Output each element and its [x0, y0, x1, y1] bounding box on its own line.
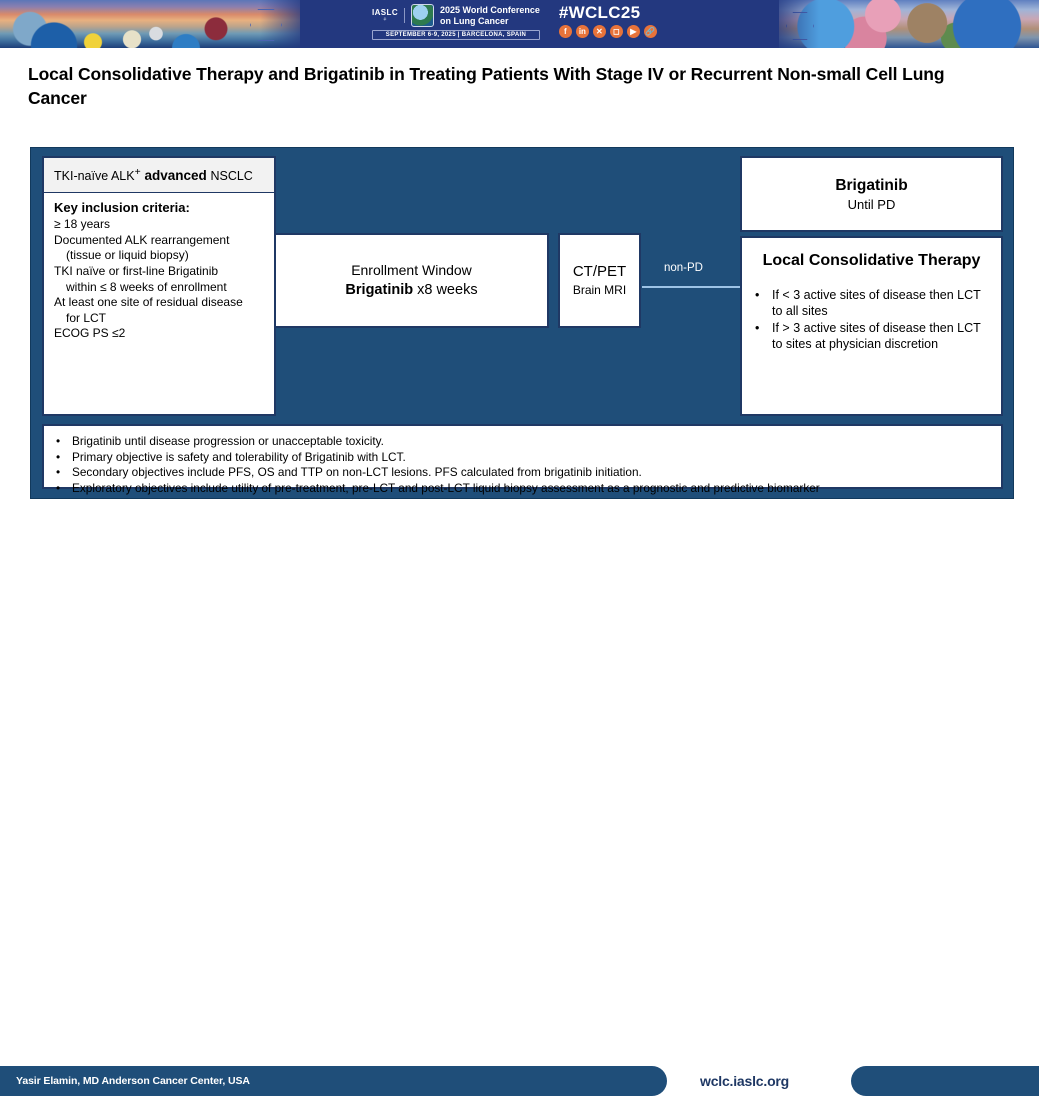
list-item: • Exploratory objectives include utility… — [56, 481, 991, 497]
conference-date-location: SEPTEMBER 6-9, 2025 | BARCELONA, SPAIN — [372, 30, 540, 40]
iaslc-emblem-icon: ⚘ — [383, 17, 388, 23]
bullet-icon: • — [56, 434, 72, 450]
list-item: • Brigatinib until disease progression o… — [56, 434, 991, 450]
bullet-icon: • — [752, 287, 772, 319]
event-hashtag: #WCLC25 — [559, 4, 657, 22]
note-text: Exploratory objectives include utility o… — [72, 481, 991, 497]
conference-title-line2: on Lung Cancer — [440, 16, 540, 27]
list-item: ECOG PS ≤2 — [54, 326, 266, 342]
iaslc-wordmark: IASLC ⚘ — [372, 8, 405, 23]
sagrada-familia-blossom-photo — [779, 0, 1039, 48]
study-notes-box: • Brigatinib until disease progression o… — [42, 424, 1003, 489]
bullet-icon: • — [56, 481, 72, 497]
social-icon-row[interactable]: f in ✕ ◻ ▶ 🔗 — [559, 25, 657, 38]
conference-website-url[interactable]: wclc.iaslc.org — [700, 1073, 789, 1089]
list-item: • If > 3 active sites of disease then LC… — [752, 320, 991, 352]
population-header-pre: TKI-naïve ALK — [54, 169, 135, 183]
lct-bullet-text: If < 3 active sites of disease then LCT … — [772, 287, 991, 319]
population-header-mid: advanced — [141, 168, 211, 183]
imaging-modality-secondary: Brain MRI — [573, 282, 626, 299]
list-item: At least one site of residual disease — [54, 295, 266, 311]
list-item: TKI naïve or first-line Brigatinib — [54, 264, 266, 280]
lct-bullet-list: • If < 3 active sites of disease then LC… — [752, 287, 991, 352]
iaslc-logo-card: IASLC ⚘ 2025 World Conference on Lung Ca… — [372, 4, 540, 40]
presenter-affiliation: Yasir Elamin, MD Anderson Cancer Center,… — [16, 1075, 250, 1087]
arrow-label: non-PD — [664, 262, 703, 274]
inclusion-criteria-title: Key inclusion criteria: — [54, 200, 266, 215]
note-text: Primary objective is safety and tolerabi… — [72, 450, 991, 466]
enrollment-treatment-label: Brigatinib x8 weeks — [345, 280, 477, 300]
enrollment-drug-name: Brigatinib — [345, 282, 413, 298]
list-item: • If < 3 active sites of disease then LC… — [752, 287, 991, 319]
enrollment-window-label: Enrollment Window — [351, 261, 472, 280]
imaging-modality-primary: CT/PET — [573, 262, 626, 282]
conference-title: 2025 World Conference on Lung Cancer — [440, 5, 540, 26]
footer-right-pill — [851, 1066, 1039, 1096]
bullet-icon: • — [56, 450, 72, 466]
list-item: Documented ALK rearrangement — [54, 233, 266, 249]
facebook-icon[interactable]: f — [559, 25, 572, 38]
iaslc-logo-row: IASLC ⚘ 2025 World Conference on Lung Ca… — [372, 4, 540, 27]
conference-banner: IASLC ⚘ 2025 World Conference on Lung Ca… — [0, 0, 1039, 48]
list-item: ≥ 18 years — [54, 217, 266, 233]
population-header-post: NSCLC — [210, 169, 252, 183]
list-item: for LCT — [54, 311, 266, 327]
brigatinib-maintenance-box: Brigatinib Until PD — [740, 156, 1003, 232]
inclusion-criteria-box: TKI-naïve ALK+ advanced NSCLC Key inclus… — [42, 156, 276, 416]
list-item: • Primary objective is safety and tolera… — [56, 450, 991, 466]
lct-bullet-text: If > 3 active sites of disease then LCT … — [772, 320, 991, 352]
list-item: • Secondary objectives include PFS, OS a… — [56, 465, 991, 481]
note-text: Secondary objectives include PFS, OS and… — [72, 465, 991, 481]
brigatinib-drug-name: Brigatinib — [835, 175, 907, 196]
list-item: within ≤ 8 weeks of enrollment — [54, 280, 266, 296]
imaging-assessment-box: CT/PET Brain MRI — [558, 233, 641, 328]
bullet-icon: • — [752, 320, 772, 352]
inclusion-criteria-list: ≥ 18 years Documented ALK rearrangement … — [54, 217, 266, 342]
hashtag-group: #WCLC25 f in ✕ ◻ ▶ 🔗 — [559, 4, 657, 38]
lct-title: Local Consolidative Therapy — [752, 250, 991, 271]
population-header: TKI-naïve ALK+ advanced NSCLC — [44, 158, 274, 193]
brigatinib-duration: Until PD — [848, 196, 896, 214]
instagram-icon[interactable]: ◻ — [610, 25, 623, 38]
x-twitter-icon[interactable]: ✕ — [593, 25, 606, 38]
link-icon[interactable]: 🔗 — [644, 25, 657, 38]
note-text: Brigatinib until disease progression or … — [72, 434, 991, 450]
slide-footer: Yasir Elamin, MD Anderson Cancer Center,… — [0, 525, 1039, 585]
local-consolidative-therapy-box: Local Consolidative Therapy • If < 3 act… — [740, 236, 1003, 416]
iaslc-acronym: IASLC — [372, 8, 398, 17]
globe-icon — [411, 4, 434, 27]
bullet-icon: • — [56, 465, 72, 481]
linkedin-icon[interactable]: in — [576, 25, 589, 38]
page-title: Local Consolidative Therapy and Brigatin… — [28, 62, 983, 110]
banner-logo-group: IASLC ⚘ 2025 World Conference on Lung Ca… — [372, 4, 657, 40]
enrollment-window-box: Enrollment Window Brigatinib x8 weeks — [274, 233, 549, 328]
conference-title-line1: 2025 World Conference — [440, 5, 540, 16]
study-schema-panel: TKI-naïve ALK+ advanced NSCLC Key inclus… — [30, 147, 1014, 499]
enrollment-duration: x8 weeks — [413, 282, 477, 298]
youtube-icon[interactable]: ▶ — [627, 25, 640, 38]
inclusion-criteria-body: Key inclusion criteria: ≥ 18 years Docum… — [44, 193, 274, 348]
list-item: (tissue or liquid biopsy) — [54, 248, 266, 264]
